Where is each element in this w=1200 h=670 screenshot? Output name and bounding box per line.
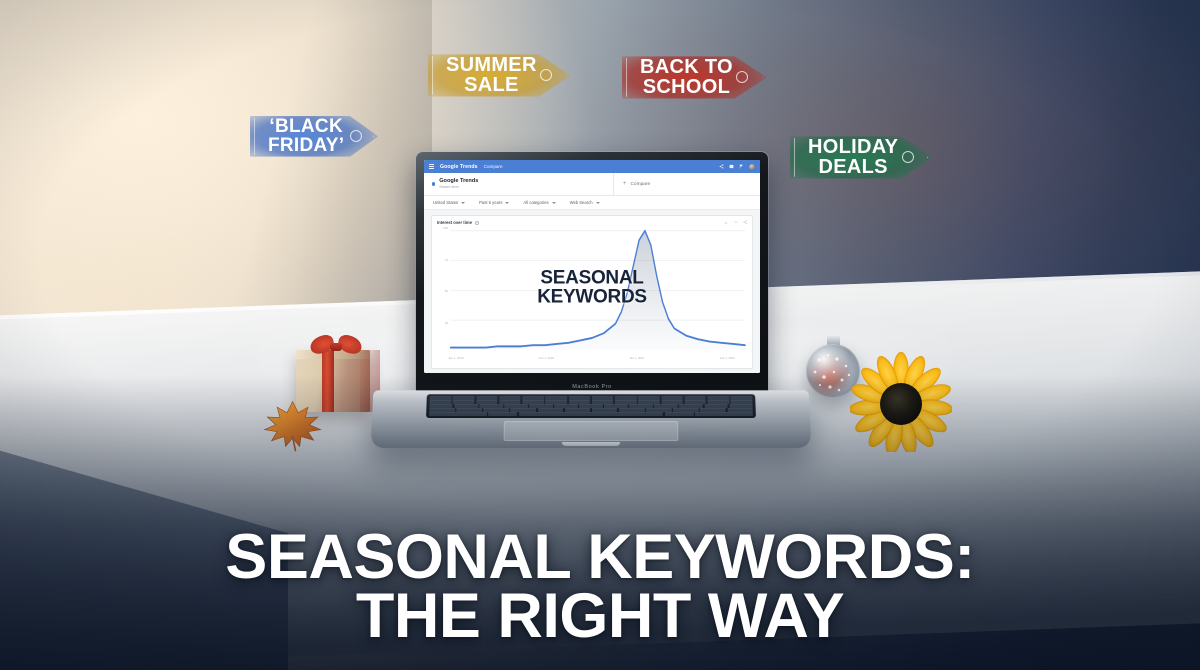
menu-icon[interactable] <box>429 164 434 168</box>
tag-label-line1: HOLIDAY <box>808 136 898 158</box>
share-icon[interactable] <box>719 164 724 169</box>
chart-x-axis: Jan 1, 2019Jan 1, 2020Jan 1, 2021Jan 1, … <box>450 356 745 365</box>
info-icon[interactable] <box>475 221 479 225</box>
tag-label: HOLIDAY DEALS <box>808 137 898 178</box>
series-color-dot <box>432 182 435 185</box>
trends-filter-row: United States Past 5 years All categorie… <box>424 196 760 210</box>
tag-label: ‘BLACK FRIDAY’ <box>268 117 344 156</box>
keyboard-row <box>429 412 753 415</box>
laptop: Google Trends Compare <box>372 152 810 474</box>
laptop-screen: Google Trends Compare <box>424 160 760 373</box>
filter-category-label: All categories <box>523 200 548 205</box>
chart-x-tick-label: Jan 1, 2021 <box>629 356 644 360</box>
avatar[interactable] <box>749 164 755 170</box>
laptop-model-label: MacBook Pro <box>416 384 768 390</box>
laptop-keyboard[interactable] <box>426 394 756 418</box>
chevron-down-icon <box>596 202 600 204</box>
maple-leaf-icon <box>258 396 330 452</box>
chart-gridlines <box>451 231 746 320</box>
filter-category[interactable]: All categories <box>523 200 555 205</box>
interest-over-time-chart: 100755025 <box>437 228 747 365</box>
chart-plot <box>437 228 747 365</box>
add-compare-label: Compare <box>630 182 650 187</box>
tag-label-line2: FRIDAY’ <box>268 135 344 156</box>
sunflower-icon <box>850 352 952 452</box>
search-term-chip[interactable]: Google Trends Search term <box>424 173 614 195</box>
filter-location[interactable]: United States <box>433 200 465 205</box>
trends-content: Interest over time 100755025 <box>424 210 760 373</box>
chart-x-tick-label: Jan 1, 2020 <box>539 356 554 360</box>
tag-label: SUMMER SALE <box>446 55 537 96</box>
chevron-down-icon <box>552 202 556 204</box>
bow-knot <box>330 343 342 351</box>
chart-x-tick-label: Jan 1, 2022 <box>720 356 735 360</box>
trends-topbar: Google Trends Compare <box>424 160 760 173</box>
trends-brand-label: Google Trends <box>440 164 478 170</box>
flag-icon[interactable] <box>739 164 744 169</box>
chevron-down-icon <box>505 202 509 204</box>
card-tools <box>724 220 747 224</box>
tag-label-line1: ‘BLACK <box>269 116 343 137</box>
filter-location-label: United States <box>433 200 458 205</box>
laptop-lid: Google Trends Compare <box>416 152 768 395</box>
tag-label-line2: DEALS <box>818 156 887 178</box>
interest-over-time-card: Interest over time 100755025 <box>431 215 753 369</box>
gift-bow <box>312 334 360 356</box>
search-term-type: Search term <box>439 185 478 190</box>
keyboard-row <box>429 404 752 407</box>
filter-searchtype-label: Web Search <box>570 200 593 205</box>
filter-timerange[interactable]: Past 5 years <box>479 200 509 205</box>
keyboard-row <box>430 400 753 403</box>
trends-search-row: Google Trends Search term + Compare <box>424 173 760 196</box>
keyboard-row <box>429 408 753 411</box>
google-trends-app: Google Trends Compare <box>424 160 760 373</box>
tag-label: BACK TO SCHOOL <box>640 57 733 98</box>
share-icon[interactable] <box>743 220 747 224</box>
filter-timerange-label: Past 5 years <box>479 200 502 205</box>
code-embed-icon[interactable] <box>734 220 738 224</box>
card-title: Interest over time <box>437 220 472 225</box>
add-compare-button[interactable]: + Compare <box>614 173 760 195</box>
tag-label-line2: SALE <box>464 74 519 96</box>
topbar-compare-link[interactable]: Compare <box>484 164 503 169</box>
topbar-actions <box>719 164 755 170</box>
tag-label-line1: SUMMER <box>446 54 537 76</box>
filter-searchtype[interactable]: Web Search <box>570 200 600 205</box>
keyboard-row <box>430 397 753 400</box>
tag-label-line1: BACK TO <box>640 56 733 78</box>
search-term-value: Google Trends <box>439 178 478 185</box>
chevron-down-icon <box>461 202 465 204</box>
sunflower-prop <box>850 352 952 452</box>
search-term-text-group: Google Trends Search term <box>439 178 478 190</box>
chart-line <box>451 231 746 348</box>
laptop-trackpad[interactable] <box>504 421 679 441</box>
tag-label-line2: SCHOOL <box>643 76 730 98</box>
laptop-front-notch <box>562 442 620 446</box>
download-icon[interactable] <box>724 220 728 224</box>
embed-icon[interactable] <box>729 164 734 169</box>
chart-x-tick-label: Jan 1, 2019 <box>448 356 463 360</box>
card-header: Interest over time <box>437 220 747 225</box>
maple-leaf-prop <box>258 396 330 452</box>
plus-icon: + <box>623 181 627 187</box>
laptop-base <box>371 390 812 448</box>
poster-scene: Google Trends Compare <box>0 0 1200 670</box>
